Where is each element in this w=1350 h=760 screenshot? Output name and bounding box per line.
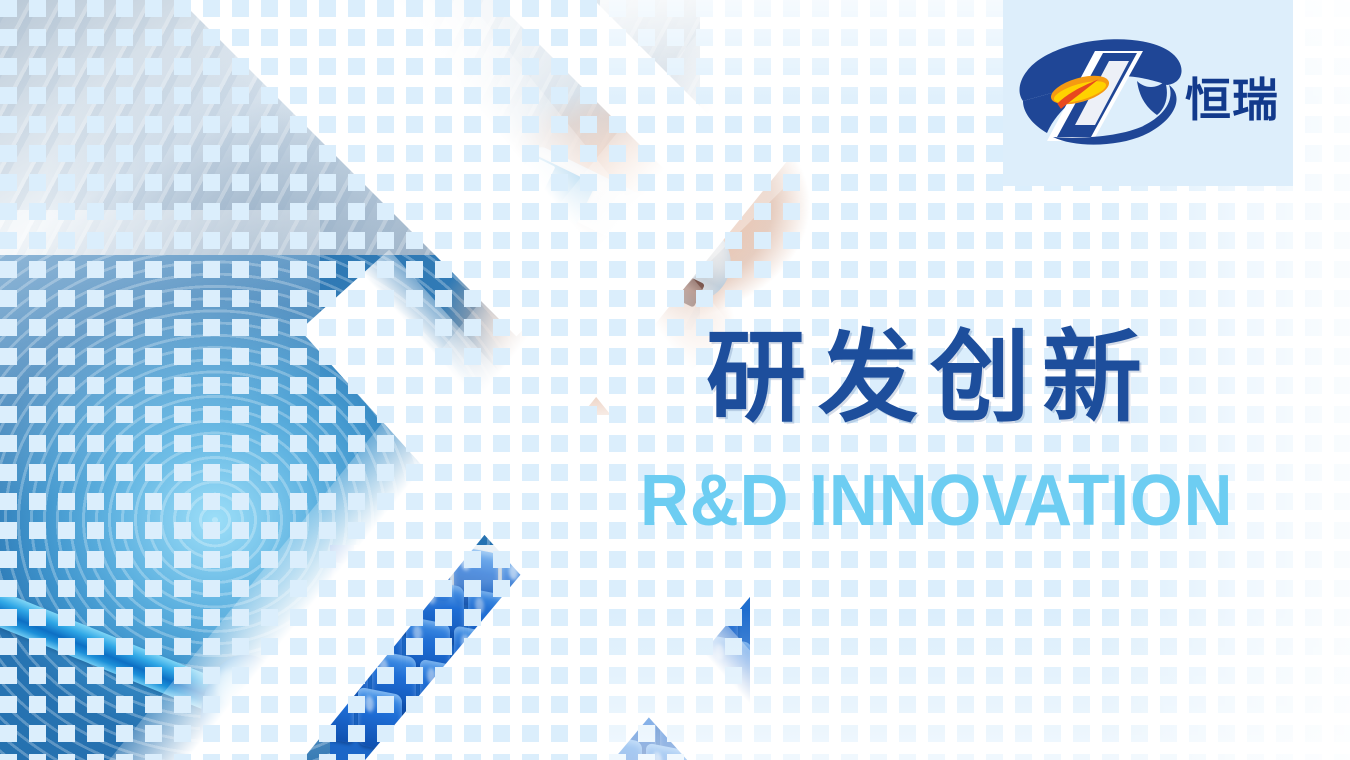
page-title: 研发创新: [706, 326, 1306, 430]
hengrui-logo-icon: [1017, 37, 1189, 149]
logo-company-name: 恒瑞: [1185, 77, 1279, 123]
logo-plate: 恒瑞: [1003, 0, 1293, 186]
headline-block: 研发创新 R&D INNOVATION: [706, 326, 1306, 430]
logo-wrap: 恒瑞: [1017, 29, 1279, 157]
page-subtitle: R&D INNOVATION: [640, 464, 1233, 538]
rd-innovation-banner: 恒瑞 研发创新 R&D INNOVATION: [0, 0, 1350, 760]
